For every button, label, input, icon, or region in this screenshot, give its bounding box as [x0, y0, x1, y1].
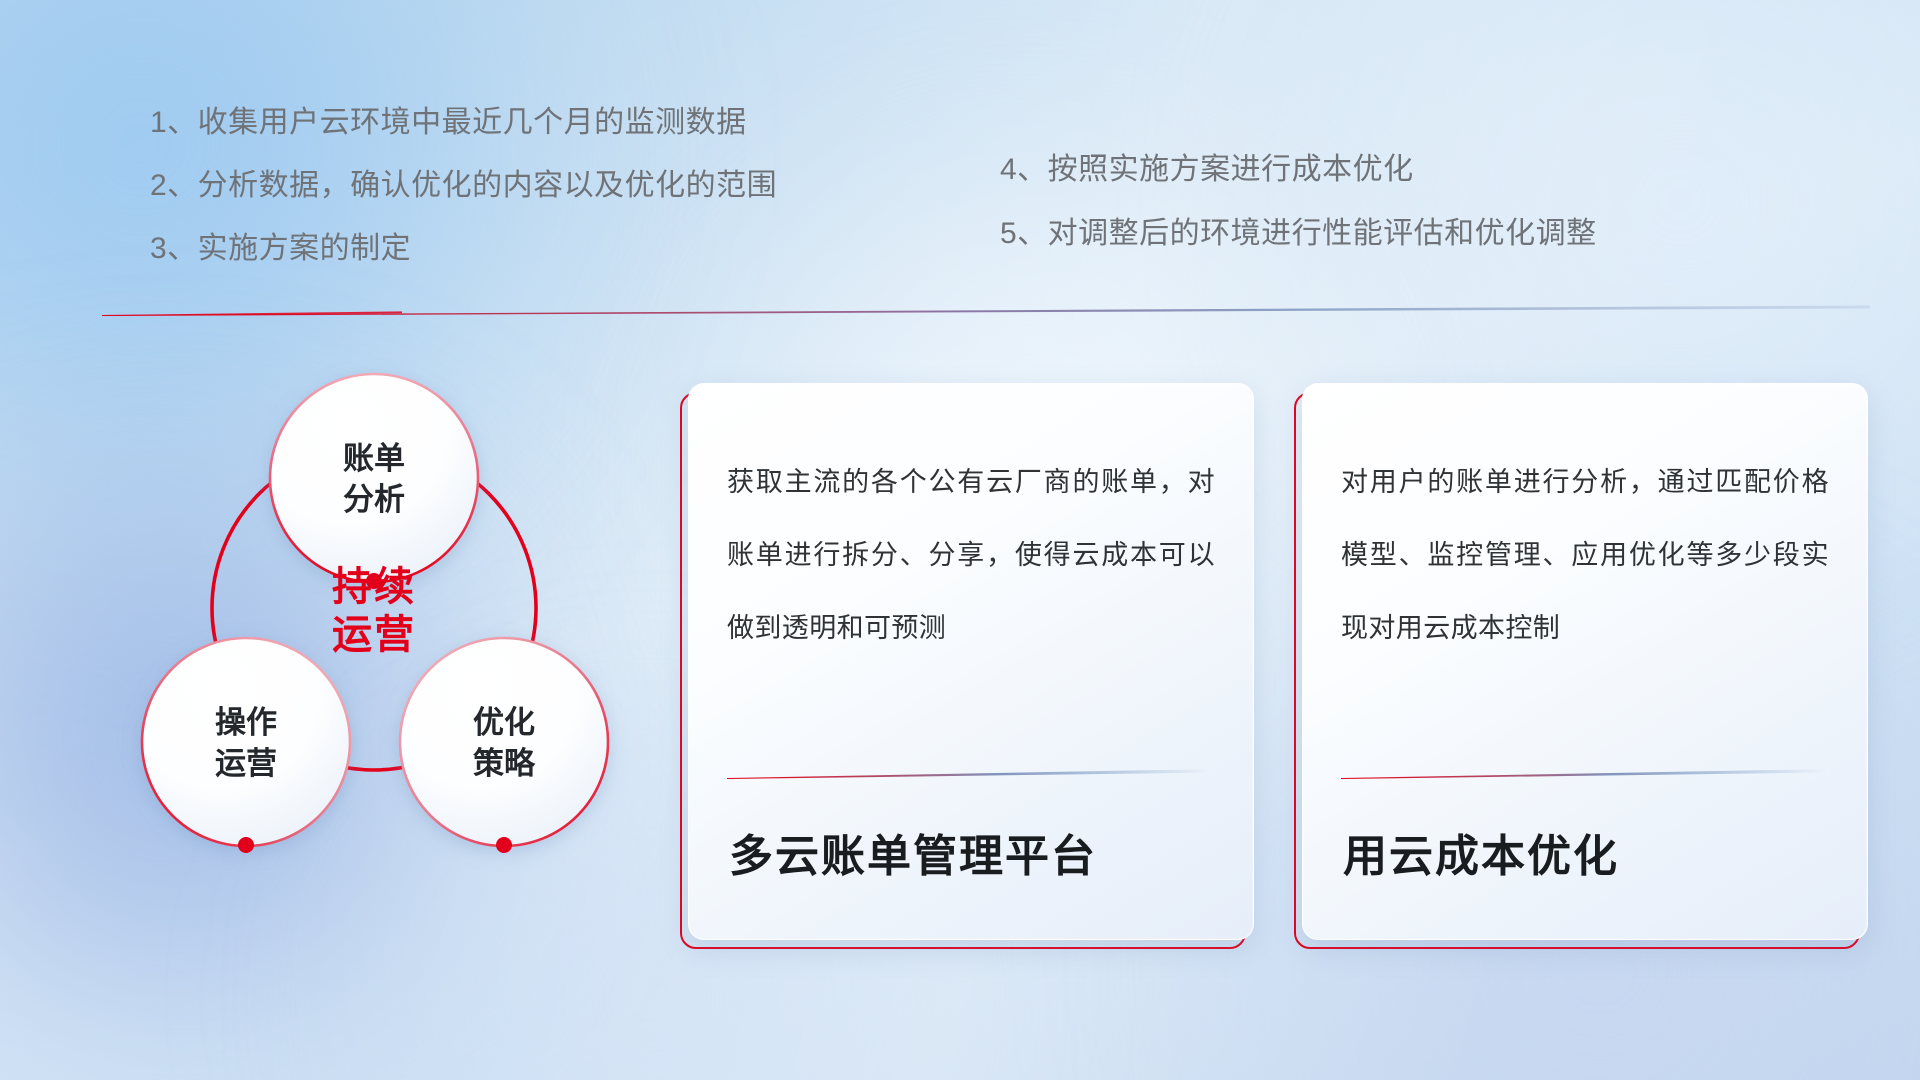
- venn-node-dot-optimize: [496, 837, 512, 853]
- step-item-3: 3、实施方案的制定: [150, 234, 777, 264]
- card-description: 对用户的账单进行分析，通过匹配价格模型、监控管理、应用优化等多少段实现对用云成本…: [1341, 446, 1829, 674]
- steps-right-column: 4、按照实施方案进行成本优化 5、对调整后的环境进行性能评估和优化调整: [1000, 155, 1597, 283]
- step-item-5: 5、对调整后的环境进行性能评估和优化调整: [1000, 219, 1597, 249]
- venn-label-ops-line1: 操作: [215, 705, 277, 740]
- venn-label-ops-line2: 运营: [215, 746, 277, 781]
- card-cloud-cost-optimization[interactable]: 对用户的账单进行分析，通过匹配价格模型、监控管理、应用优化等多少段实现对用云成本…: [1302, 383, 1868, 940]
- venn-center-label-line2: 运营: [332, 613, 416, 657]
- venn-label-bill-line1: 账单: [343, 441, 405, 476]
- card-accent-rule: [727, 766, 1215, 779]
- section-divider: [102, 302, 1870, 316]
- step-item-2: 2、分析数据，确认优化的内容以及优化的范围: [150, 171, 777, 201]
- card-multi-cloud-bill-platform[interactable]: 获取主流的各个公有云厂商的账单，对账单进行拆分、分享，使得云成本可以做到透明和可…: [688, 383, 1254, 940]
- card-face: 获取主流的各个公有云厂商的账单，对账单进行拆分、分享，使得云成本可以做到透明和可…: [688, 383, 1254, 940]
- card-title: 多云账单管理平台: [727, 779, 1215, 939]
- steps-section: 1、收集用户云环境中最近几个月的监测数据 2、分析数据，确认优化的内容以及优化的…: [0, 0, 1920, 300]
- venn-diagram: 操作 运营 优化 策略 账单 分析 持续 运营: [86, 340, 666, 960]
- steps-left-column: 1、收集用户云环境中最近几个月的监测数据 2、分析数据，确认优化的内容以及优化的…: [150, 108, 777, 297]
- step-item-4: 4、按照实施方案进行成本优化: [1000, 155, 1597, 185]
- step-item-1: 1、收集用户云环境中最近几个月的监测数据: [150, 108, 777, 138]
- card-accent-rule: [1341, 766, 1829, 779]
- card-face: 对用户的账单进行分析，通过匹配价格模型、监控管理、应用优化等多少段实现对用云成本…: [1302, 383, 1868, 940]
- venn-label-optimize-line1: 优化: [473, 705, 535, 740]
- card-description: 获取主流的各个公有云厂商的账单，对账单进行拆分、分享，使得云成本可以做到透明和可…: [727, 446, 1215, 674]
- venn-circle-ops-operation: 操作 运营: [142, 638, 350, 875]
- venn-circle-optimize-strategy: 优化 策略: [400, 638, 608, 875]
- card-title: 用云成本优化: [1341, 779, 1829, 939]
- venn-node-dot-ops: [238, 837, 254, 853]
- venn-label-bill-line2: 分析: [343, 482, 405, 517]
- venn-center-label-line1: 持续: [332, 565, 416, 609]
- venn-label-optimize-line2: 策略: [473, 746, 536, 781]
